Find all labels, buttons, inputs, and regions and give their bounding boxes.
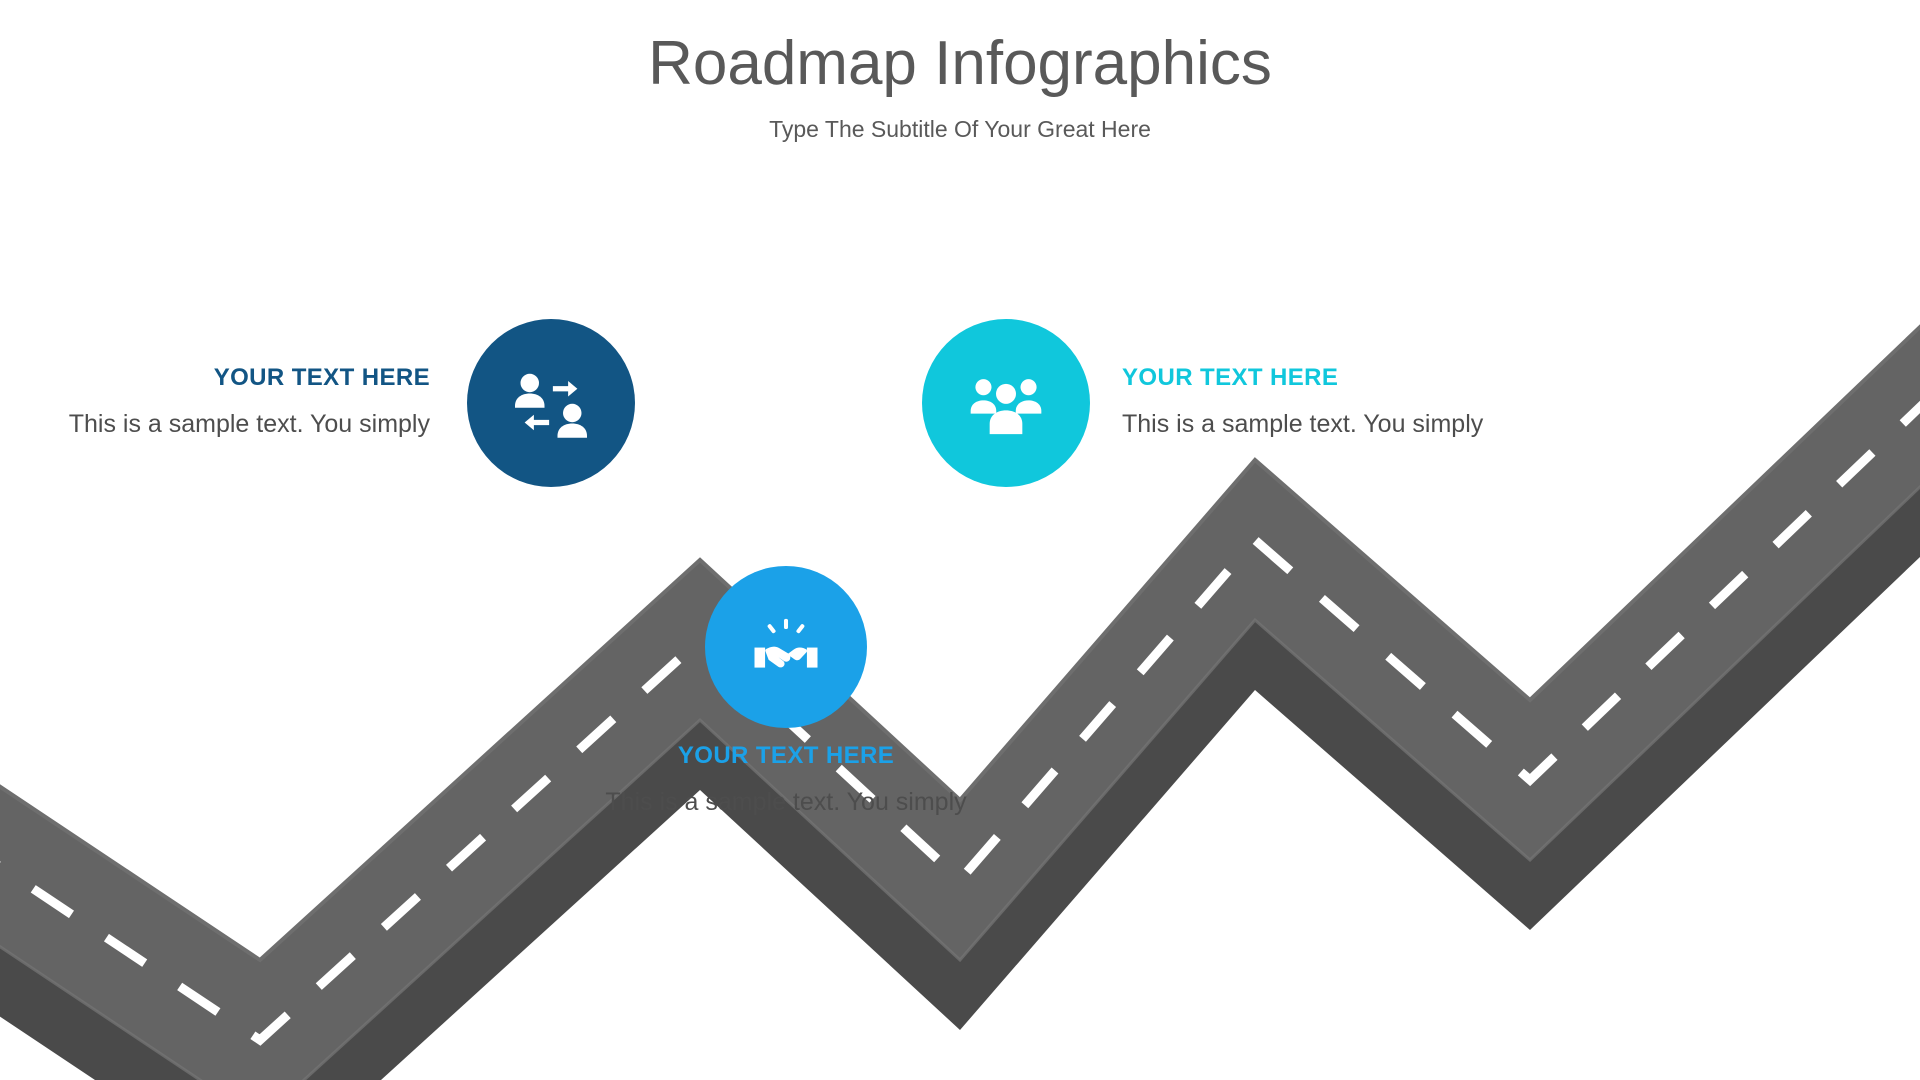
people-exchange-icon — [511, 363, 591, 443]
milestone-2-text-block: YOUR TEXT HERE This is a sample text. Yo… — [571, 742, 1001, 819]
slide-canvas: Roadmap Infographics Type The Subtitle O… — [0, 0, 1920, 1080]
people-group-icon — [967, 364, 1045, 442]
milestone-2-circle[interactable] — [705, 566, 867, 728]
milestone-1-text-block: YOUR TEXT HERE This is a sample text. Yo… — [0, 364, 430, 441]
milestone-3-circle[interactable] — [922, 319, 1090, 487]
milestone-2-body: This is a sample text. You simply — [571, 786, 1001, 819]
milestone-3-body: This is a sample text. You simply — [1122, 408, 1552, 441]
milestone-3-text-block: YOUR TEXT HERE This is a sample text. Yo… — [1122, 364, 1552, 441]
milestone-1-circle[interactable] — [467, 319, 635, 487]
milestone-3-heading: YOUR TEXT HERE — [1122, 364, 1552, 392]
milestone-1-heading: YOUR TEXT HERE — [0, 364, 430, 392]
milestone-1-body: This is a sample text. You simply — [0, 408, 430, 441]
milestone-2-heading: YOUR TEXT HERE — [571, 742, 1001, 770]
roadmap-road-graphic — [0, 0, 1920, 1080]
handshake-deal-icon — [750, 611, 822, 683]
